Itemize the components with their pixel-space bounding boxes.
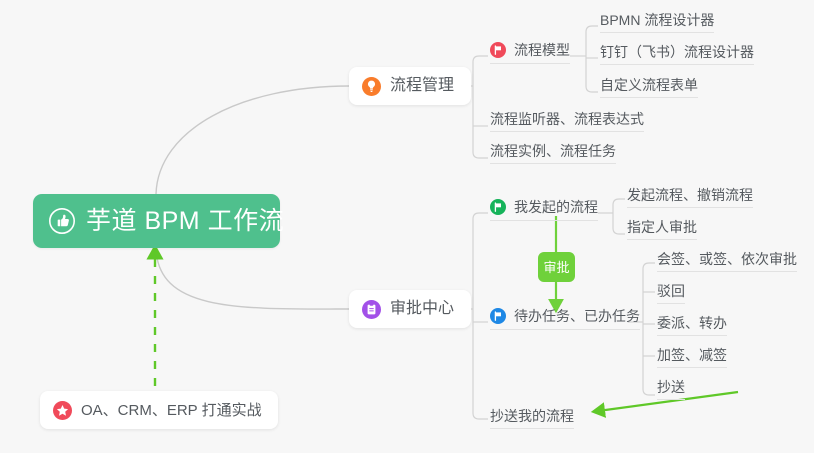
flag-icon (490, 42, 506, 58)
leaf-start-cancel-process[interactable]: 发起流程、撤销流程 (627, 188, 753, 208)
branch-node-approval-center[interactable]: 审批中心 (349, 290, 471, 328)
mindmap-canvas: 芋道 BPM 工作流 流程管理 流程模型 BPMN 流程设计器 钉钉（飞书）流程… (0, 0, 814, 453)
leaf-delegate-transfer[interactable]: 委派、转办 (657, 316, 727, 336)
node-todo-done-tasks[interactable]: 待办任务、已办任务 (490, 308, 640, 330)
edge-root-to-process-management (156, 86, 349, 194)
flag-icon (490, 308, 506, 324)
leaf-bpmn-designer[interactable]: BPMN 流程设计器 (600, 13, 714, 33)
node-label-todo-done-tasks: 待办任务、已办任务 (514, 309, 640, 323)
edge-root-to-approval-center (156, 248, 349, 309)
leaf-carbon-copy[interactable]: 抄送 (657, 380, 685, 400)
node-label-process-model: 流程模型 (514, 43, 570, 57)
root-label: 芋道 BPM 工作流 (86, 209, 284, 234)
flag-icon (490, 199, 506, 215)
edge-approval-center-spine (473, 213, 488, 419)
root-node[interactable]: 芋道 BPM 工作流 (33, 194, 280, 248)
bottom-note-node[interactable]: OA、CRM、ERP 打通实战 (40, 391, 278, 429)
approval-arrow-chip: 审批 (538, 252, 575, 282)
bottom-note-label: OA、CRM、ERP 打通实战 (81, 403, 262, 418)
lightbulb-icon (362, 77, 381, 96)
clipboard-icon (362, 300, 381, 319)
edge-todo-tasks-spine (643, 263, 655, 395)
edge-process-model-spine (586, 26, 598, 92)
leaf-process-instance[interactable]: 流程实例、流程任务 (490, 144, 616, 164)
node-process-model[interactable]: 流程模型 (490, 42, 570, 64)
thumbs-up-icon (49, 208, 75, 234)
edge-process-management-spine (473, 56, 488, 158)
node-my-initiated-processes[interactable]: 我发起的流程 (490, 199, 598, 221)
branch-label-approval-center: 审批中心 (390, 301, 454, 317)
approval-arrow-chip-label: 审批 (543, 261, 569, 274)
leaf-designated-approver[interactable]: 指定人审批 (627, 220, 697, 240)
leaf-countersign[interactable]: 会签、或签、依次审批 (657, 252, 797, 272)
leaf-process-listener[interactable]: 流程监听器、流程表达式 (490, 112, 644, 132)
leaf-reject[interactable]: 驳回 (657, 284, 685, 304)
leaf-custom-form[interactable]: 自定义流程表单 (600, 78, 698, 98)
edge-my-initiated-spine (613, 199, 625, 234)
leaf-add-remove-sign[interactable]: 加签、减签 (657, 348, 727, 368)
leaf-dingtalk-designer[interactable]: 钉钉（飞书）流程设计器 (600, 45, 754, 65)
branch-node-process-management[interactable]: 流程管理 (349, 67, 471, 105)
branch-label-process-management: 流程管理 (390, 78, 454, 94)
node-label-my-initiated-processes: 我发起的流程 (514, 200, 598, 214)
leaf-cc-to-me[interactable]: 抄送我的流程 (490, 409, 574, 429)
star-icon (53, 401, 72, 420)
